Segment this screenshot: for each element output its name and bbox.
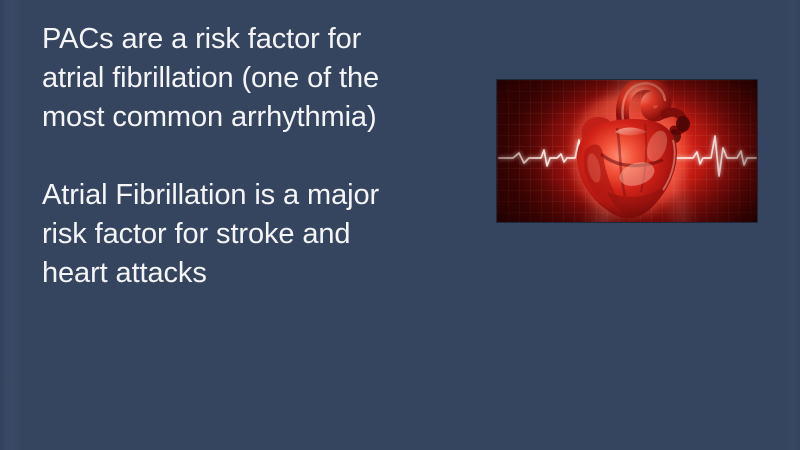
paragraph-2-line-2: risk factor for stroke and <box>42 215 462 254</box>
paragraph-1: PACs are a risk factor for atrial fibril… <box>42 20 462 137</box>
heart-ecg-image <box>497 80 757 222</box>
paragraph-2: Atrial Fibrillation is a major risk fact… <box>42 176 462 293</box>
paragraph-1-line-1: PACs are a risk factor for <box>42 20 462 59</box>
paragraph-spacer <box>42 137 462 176</box>
paragraph-2-line-1: Atrial Fibrillation is a major <box>42 176 462 215</box>
slide-body-text: PACs are a risk factor for atrial fibril… <box>42 20 462 293</box>
paragraph-2-line-3: heart attacks <box>42 254 462 293</box>
paragraph-1-line-3: most common arrhythmia) <box>42 98 462 137</box>
slide-canvas: PACs are a risk factor for atrial fibril… <box>0 0 800 450</box>
image-vignette <box>497 80 757 222</box>
paragraph-1-line-2: atrial fibrillation (one of the <box>42 59 462 98</box>
